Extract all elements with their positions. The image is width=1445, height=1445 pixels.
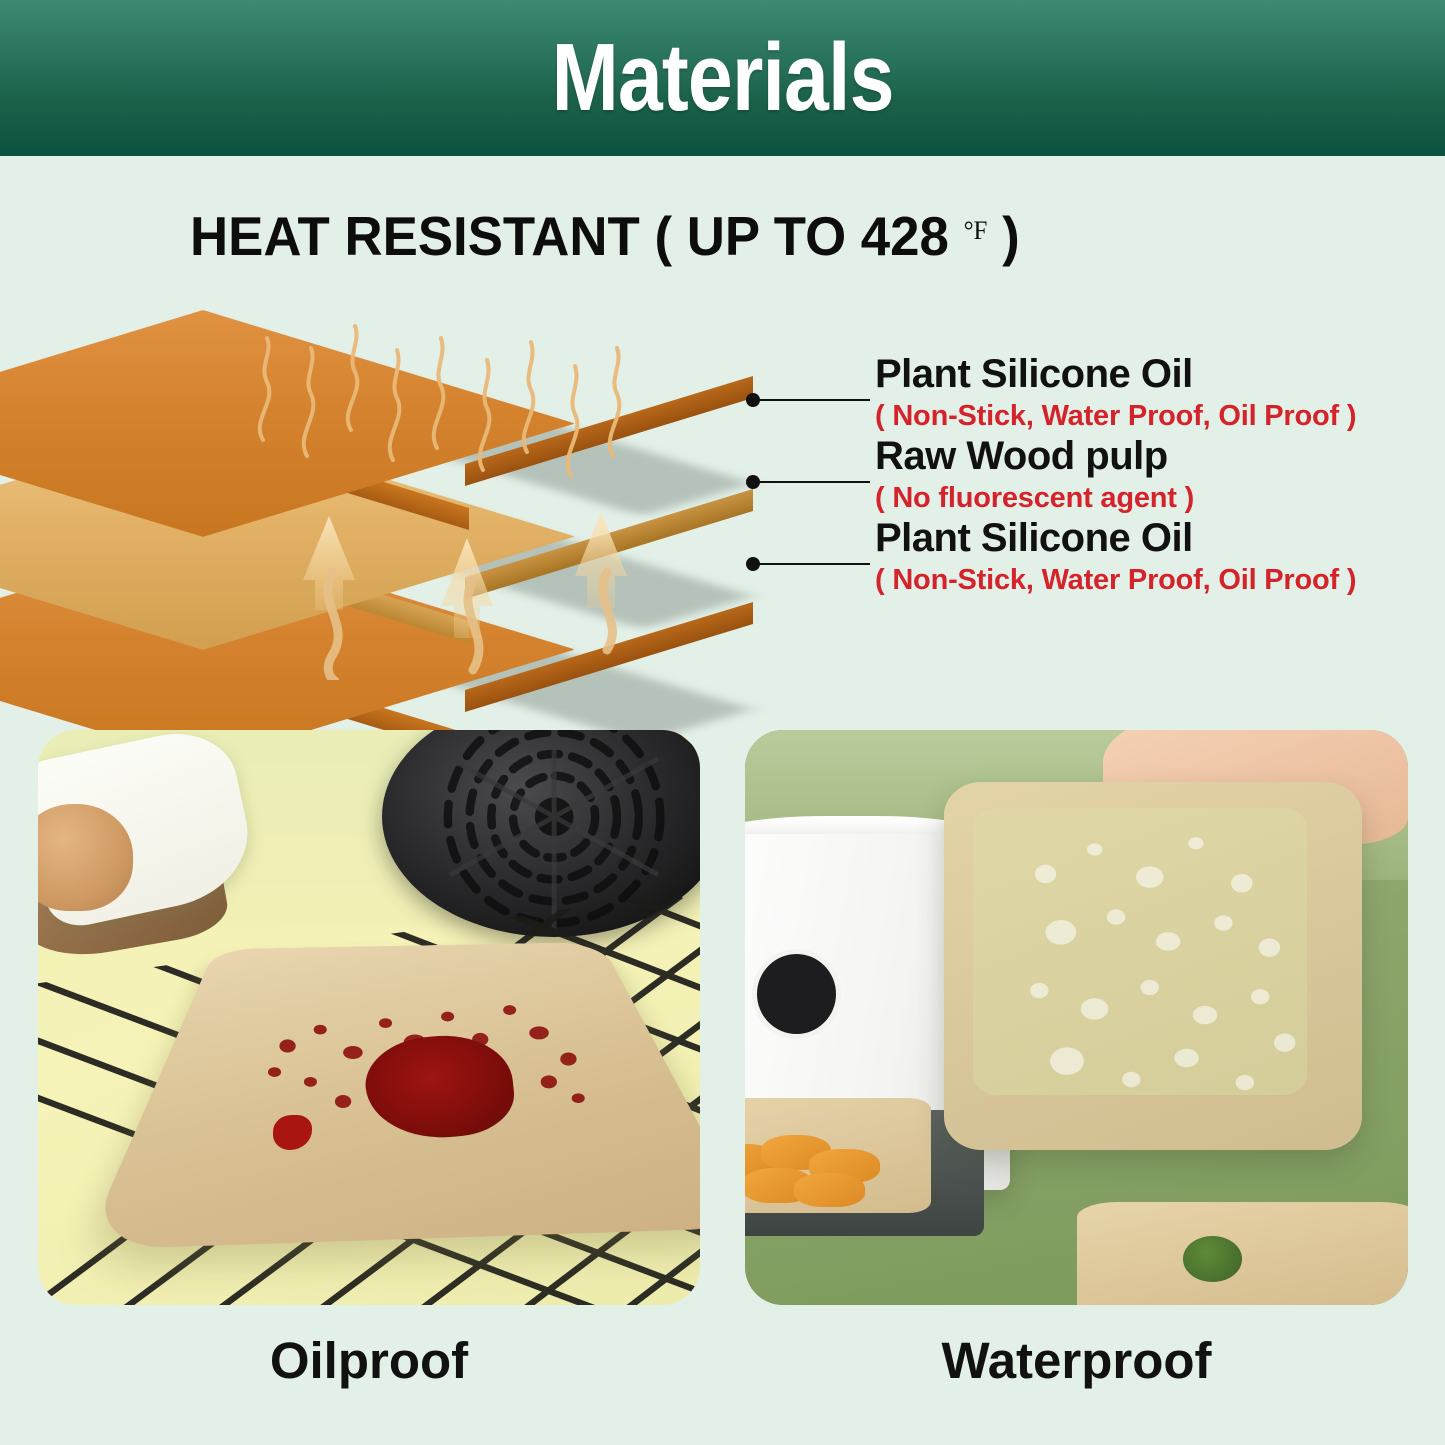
callout-title: Raw Wood pulp xyxy=(875,434,1168,479)
photo-waterproof xyxy=(745,730,1408,1305)
stacked-paper-liner-bottom xyxy=(1077,1202,1409,1306)
page-title: Materials xyxy=(551,30,893,126)
photo-oilproof xyxy=(38,730,700,1305)
callout-title: Plant Silicone Oil xyxy=(875,352,1193,397)
layer-callout-list: Plant Silicone Oil ( Non-Stick, Water Pr… xyxy=(700,340,1320,600)
heading-prefix-text: HEAT RESISTANT ( UP TO 428 xyxy=(190,205,964,267)
heat-resistance-heading: HEAT RESISTANT ( UP TO 428 °F ) xyxy=(190,204,1020,268)
callout-subtitle: ( Non-Stick, Water Proof, Oil Proof ) xyxy=(875,564,1356,597)
callout-title: Plant Silicone Oil xyxy=(875,516,1193,561)
waterproof-scene xyxy=(745,730,1408,1305)
layer-slab-top xyxy=(155,292,775,522)
callout-subtitle: ( No fluorescent agent ) xyxy=(875,482,1194,515)
callout-leader-line xyxy=(752,399,870,401)
caption-oilproof: Oilproof xyxy=(38,1331,700,1390)
water-droplets-icon xyxy=(944,782,1362,1150)
caption-waterproof: Waterproof xyxy=(745,1331,1408,1390)
callout-subtitle: ( Non-Stick, Water Proof, Oil Proof ) xyxy=(875,400,1356,433)
air-fryer-dial xyxy=(752,949,842,1040)
degree-fahrenheit-symbol: °F xyxy=(964,216,988,245)
broccoli-garnish xyxy=(1183,1236,1243,1282)
header-banner: Materials xyxy=(0,0,1445,156)
chicken-nuggets xyxy=(745,1133,891,1208)
oilproof-scene xyxy=(38,730,700,1305)
heading-suffix-text: ) xyxy=(987,205,1019,267)
callout-leader-line xyxy=(752,481,870,483)
callout-leader-line xyxy=(752,563,870,565)
nugget xyxy=(794,1173,865,1207)
water-beaded-paper-liner xyxy=(944,782,1362,1150)
paper-liner-with-sauce xyxy=(170,857,660,1248)
